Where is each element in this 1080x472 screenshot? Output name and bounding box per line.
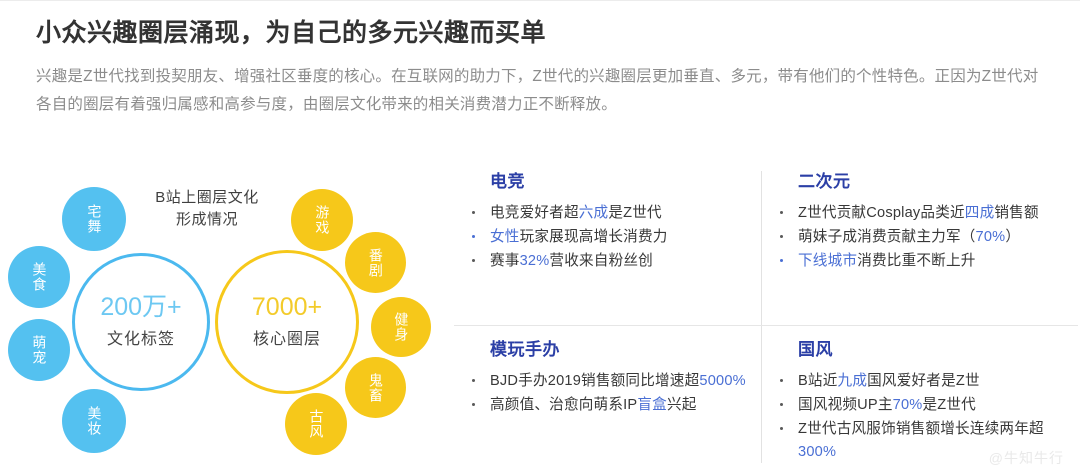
highlight-text: 300%	[798, 444, 836, 460]
watermark: @牛知牛行	[989, 448, 1064, 468]
bubble-guichu[interactable]: 鬼畜	[345, 357, 406, 418]
vertical-divider	[761, 171, 762, 463]
bullet-dot-icon	[780, 211, 783, 214]
highlight-text: 70%	[893, 397, 923, 413]
body-text: 消费比重不断上升	[857, 253, 975, 269]
bubble-meishi[interactable]: 美食	[8, 246, 70, 308]
slide-root: 小众兴趣圈层涌现，为自己的多元兴趣而买单 兴趣是Z世代找到投契朋友、增强社区垂度…	[0, 0, 1080, 471]
panel-bullet-list: BJD手办2019销售额同比增速超5000%高颜值、治愈向萌系IP盲盒兴起	[454, 370, 760, 417]
diagram-title-line-1: B站上圈层文化	[132, 187, 282, 209]
list-item: 国风视频UP主70%是Z世代	[768, 394, 1074, 417]
bullet-dot-icon	[780, 259, 783, 262]
bullet-dot-icon	[780, 403, 783, 406]
highlight-text: 下线城市	[798, 253, 857, 269]
bubble-youxi[interactable]: 游戏	[291, 189, 353, 251]
list-item: 下线城市消费比重不断上升	[768, 250, 1074, 273]
horizontal-divider	[454, 325, 1078, 326]
body-text: 是Z世代	[922, 397, 976, 413]
body-text: 是Z世代	[608, 205, 662, 221]
bullet-dot-icon	[472, 403, 475, 406]
body-text: 高颜值、治愈向萌系IP	[490, 397, 637, 413]
panel-acg: 二次元 Z世代贡献Cosplay品类近四成销售额萌妹子成消费贡献主力军（70%）…	[768, 167, 1074, 274]
highlight-text: 32%	[520, 253, 550, 269]
highlight-text: 5000%	[699, 373, 745, 389]
body-text: Z世代古风服饰销售额增长连续两年超	[798, 421, 1044, 437]
list-item: 高颜值、治愈向萌系IP盲盒兴起	[454, 394, 760, 417]
bubble-zhaiwu[interactable]: 宅舞	[62, 187, 126, 251]
panel-guofeng: 国风 B站近九成国风爱好者是Z世国风视频UP主70%是Z世代Z世代古风服饰销售额…	[768, 335, 1074, 465]
bubble-gufeng[interactable]: 古风	[285, 393, 347, 455]
body-text: BJD手办2019销售额同比增速超	[490, 373, 699, 389]
bullet-dot-icon	[472, 235, 475, 238]
core-left-caption: 文化标签	[107, 325, 175, 349]
core-circle-core-circles[interactable]: 7000+ 核心圈层	[215, 250, 359, 394]
diagram-title: B站上圈层文化 形成情况	[132, 187, 282, 231]
core-circle-culture-tags[interactable]: 200万+ 文化标签	[72, 253, 210, 391]
panel-model-figures: 模玩手办 BJD手办2019销售额同比增速超5000%高颜值、治愈向萌系IP盲盒…	[454, 335, 760, 418]
core-left-number: 200万+	[100, 295, 181, 320]
body-text: Z世代贡献Cosplay品类近	[798, 205, 965, 221]
body-text: 电竞爱好者超	[490, 205, 579, 221]
list-item: 萌妹子成消费贡献主力军（70%）	[768, 226, 1074, 249]
list-item: B站近九成国风爱好者是Z世	[768, 370, 1074, 393]
diagram-title-line-2: 形成情况	[132, 209, 282, 231]
bullet-dot-icon	[780, 379, 783, 382]
highlight-text: 六成	[579, 205, 609, 221]
bubble-diagram: B站上圈层文化 形成情况 宅舞 美食 萌宠 美妆 游戏 番剧 健身 鬼畜 古风 …	[0, 161, 452, 472]
bullet-dot-icon	[472, 379, 475, 382]
body-text: 销售额	[994, 205, 1038, 221]
panel-heading: 二次元	[798, 167, 1074, 192]
body-text: 玩家展现高增长消费力	[520, 229, 668, 245]
list-item: Z世代贡献Cosplay品类近四成销售额	[768, 202, 1074, 225]
page-subtitle: 兴趣是Z世代找到投契朋友、增强社区垂度的核心。在互联网的助力下，Z世代的兴趣圈层…	[36, 63, 1048, 119]
highlight-text: 女性	[490, 229, 520, 245]
bullet-dot-icon	[472, 211, 475, 214]
panel-heading: 电竞	[490, 167, 760, 192]
body-text: 营收来自粉丝创	[549, 253, 653, 269]
body-text: ）	[1005, 229, 1020, 245]
body-text: 萌妹子成消费贡献主力军（	[798, 229, 976, 245]
bubble-mengchong[interactable]: 萌宠	[8, 319, 70, 381]
bubble-fanju[interactable]: 番剧	[345, 232, 406, 293]
highlight-text: 四成	[965, 205, 995, 221]
panel-heading: 模玩手办	[490, 335, 760, 360]
core-right-caption: 核心圈层	[253, 325, 321, 349]
panel-bullet-list: Z世代贡献Cosplay品类近四成销售额萌妹子成消费贡献主力军（70%）下线城市…	[768, 202, 1074, 273]
core-right-number: 7000+	[252, 295, 322, 320]
bullet-dot-icon	[780, 235, 783, 238]
page-title: 小众兴趣圈层涌现，为自己的多元兴趣而买单	[36, 13, 546, 49]
list-item: 电竞爱好者超六成是Z世代	[454, 202, 760, 225]
panel-esports: 电竞 电竞爱好者超六成是Z世代女性玩家展现高增长消费力赛事32%营收来自粉丝创	[454, 167, 760, 274]
bubble-meizhuang[interactable]: 美妆	[62, 389, 126, 453]
body-text: B站近	[798, 373, 838, 389]
body-text: 兴起	[667, 397, 697, 413]
list-item: 赛事32%营收来自粉丝创	[454, 250, 760, 273]
highlight-text: 70%	[976, 229, 1006, 245]
panel-bullet-list: 电竞爱好者超六成是Z世代女性玩家展现高增长消费力赛事32%营收来自粉丝创	[454, 202, 760, 273]
body-text: 国风视频UP主	[798, 397, 893, 413]
stats-panels: 电竞 电竞爱好者超六成是Z世代女性玩家展现高增长消费力赛事32%营收来自粉丝创 …	[452, 163, 1080, 472]
highlight-text: 九成	[838, 373, 868, 389]
bullet-dot-icon	[780, 427, 783, 430]
bubble-jianshen[interactable]: 健身	[371, 297, 431, 357]
body-text: 国风爱好者是Z世	[867, 373, 980, 389]
highlight-text: 盲盒	[637, 397, 667, 413]
list-item: 女性玩家展现高增长消费力	[454, 226, 760, 249]
body-text: 赛事	[490, 253, 520, 269]
list-item: BJD手办2019销售额同比增速超5000%	[454, 370, 760, 393]
bullet-dot-icon	[472, 259, 475, 262]
panel-heading: 国风	[798, 335, 1074, 360]
